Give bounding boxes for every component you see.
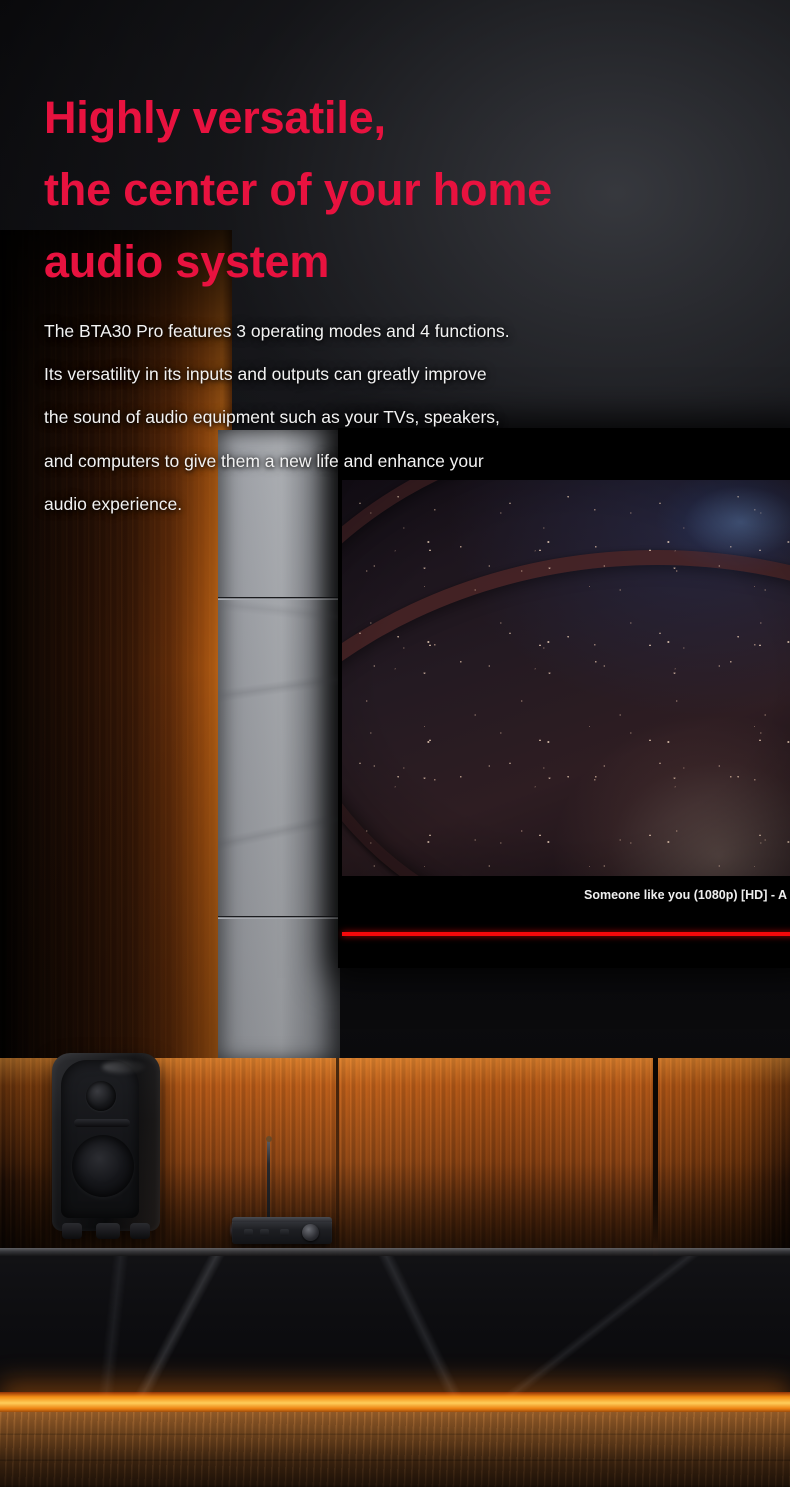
studio-monitor-speaker [52, 1053, 160, 1231]
speaker-tweeter [86, 1081, 116, 1111]
speaker-foot [130, 1223, 150, 1239]
screen-vignette [342, 480, 790, 920]
device-indicator-glow [224, 1218, 232, 1242]
device-button[interactable] [260, 1229, 269, 1236]
speaker-bass-port [74, 1119, 130, 1127]
speaker-stand [62, 1223, 150, 1239]
video-progress-bar[interactable] [342, 932, 790, 936]
page-headline: Highly versatile, the center of your hom… [44, 82, 744, 298]
speaker-foot [62, 1223, 82, 1239]
device-button[interactable] [280, 1229, 289, 1236]
cabinet-seam-right [653, 1058, 658, 1258]
marble-plinth [0, 1256, 790, 1398]
product-banner-scene: Someone like you (1080p) [HD] - A [0, 0, 790, 1487]
speaker-woofer [72, 1135, 134, 1197]
bta30-pro-unit [232, 1214, 332, 1244]
speaker-foot [96, 1223, 120, 1239]
speaker-highlight [102, 1061, 146, 1073]
device-button[interactable] [244, 1229, 253, 1236]
bluetooth-antenna [267, 1140, 270, 1220]
marble-seam-lower [218, 916, 340, 919]
wood-floor [0, 1412, 790, 1487]
led-accent-strip [0, 1392, 790, 1414]
body-copy: The BTA30 Pro features 3 operating modes… [44, 310, 734, 526]
marble-seam-upper [218, 597, 340, 600]
cabinet-seam-left [336, 1058, 339, 1258]
device-top-plate [232, 1217, 332, 1222]
volume-knob[interactable] [302, 1224, 319, 1241]
tv-screen [342, 480, 790, 920]
tv-letterbox-bar [342, 876, 790, 932]
plinth-top-edge [0, 1248, 790, 1256]
video-title-caption: Someone like you (1080p) [HD] - A [584, 888, 787, 902]
